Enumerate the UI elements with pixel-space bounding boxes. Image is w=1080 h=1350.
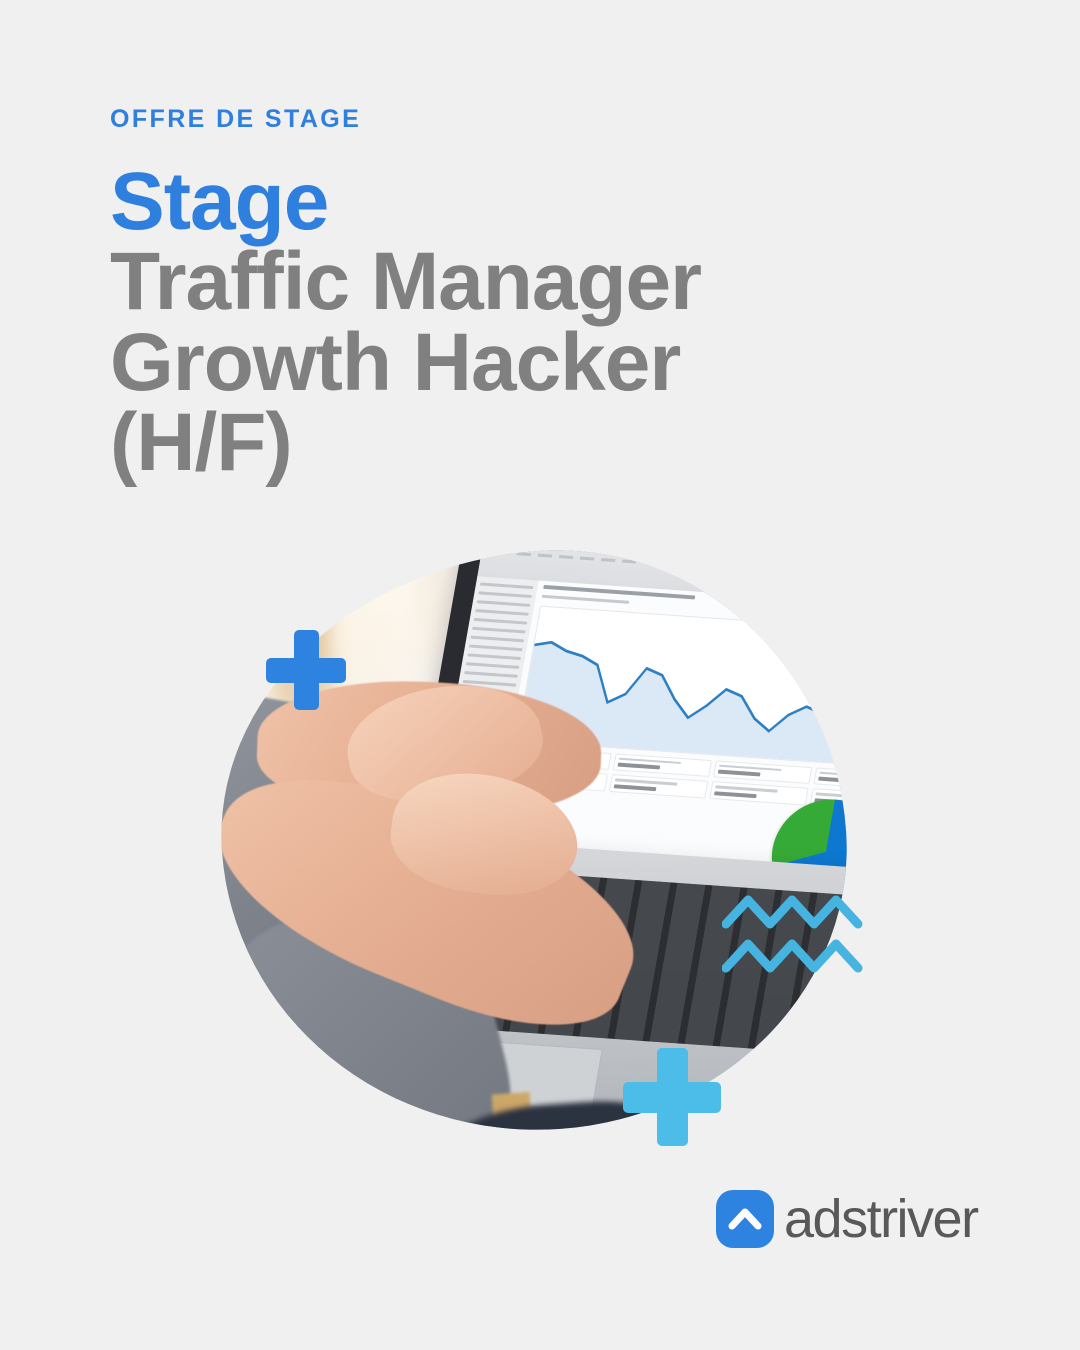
metric-card	[613, 753, 712, 777]
chevron-up-svg	[727, 1204, 763, 1234]
title-line-2: Growth Hacker	[110, 323, 930, 403]
pie-chart-legend	[845, 807, 866, 814]
chevron-up-icon	[716, 1190, 774, 1248]
dashboard-panel-subtitle	[542, 595, 630, 604]
plus-icon-top	[266, 630, 346, 710]
zigzag-icon	[722, 890, 870, 978]
title-accent-word: Stage	[110, 162, 930, 242]
metric-card	[713, 760, 812, 784]
brand-logo: adstriver	[716, 1190, 978, 1248]
brand-wordmark: adstriver	[784, 1192, 978, 1246]
metric-card	[813, 767, 865, 791]
page-title: Stage Traffic Manager Growth Hacker (H/F…	[110, 162, 930, 483]
photo-blob-mask	[203, 531, 866, 1151]
photo-background	[203, 531, 866, 1151]
title-line-1: Traffic Manager	[110, 242, 930, 322]
title-line-3: (H/F)	[110, 403, 930, 483]
metric-card	[609, 775, 708, 799]
header-block: OFFRE DE STAGE Stage Traffic Manager Gro…	[110, 104, 930, 483]
poster-canvas: OFFRE DE STAGE Stage Traffic Manager Gro…	[0, 0, 1080, 1350]
plus-icon-bottom	[623, 1048, 721, 1146]
eyebrow-label: OFFRE DE STAGE	[110, 104, 930, 134]
zigzag-svg	[722, 890, 870, 978]
